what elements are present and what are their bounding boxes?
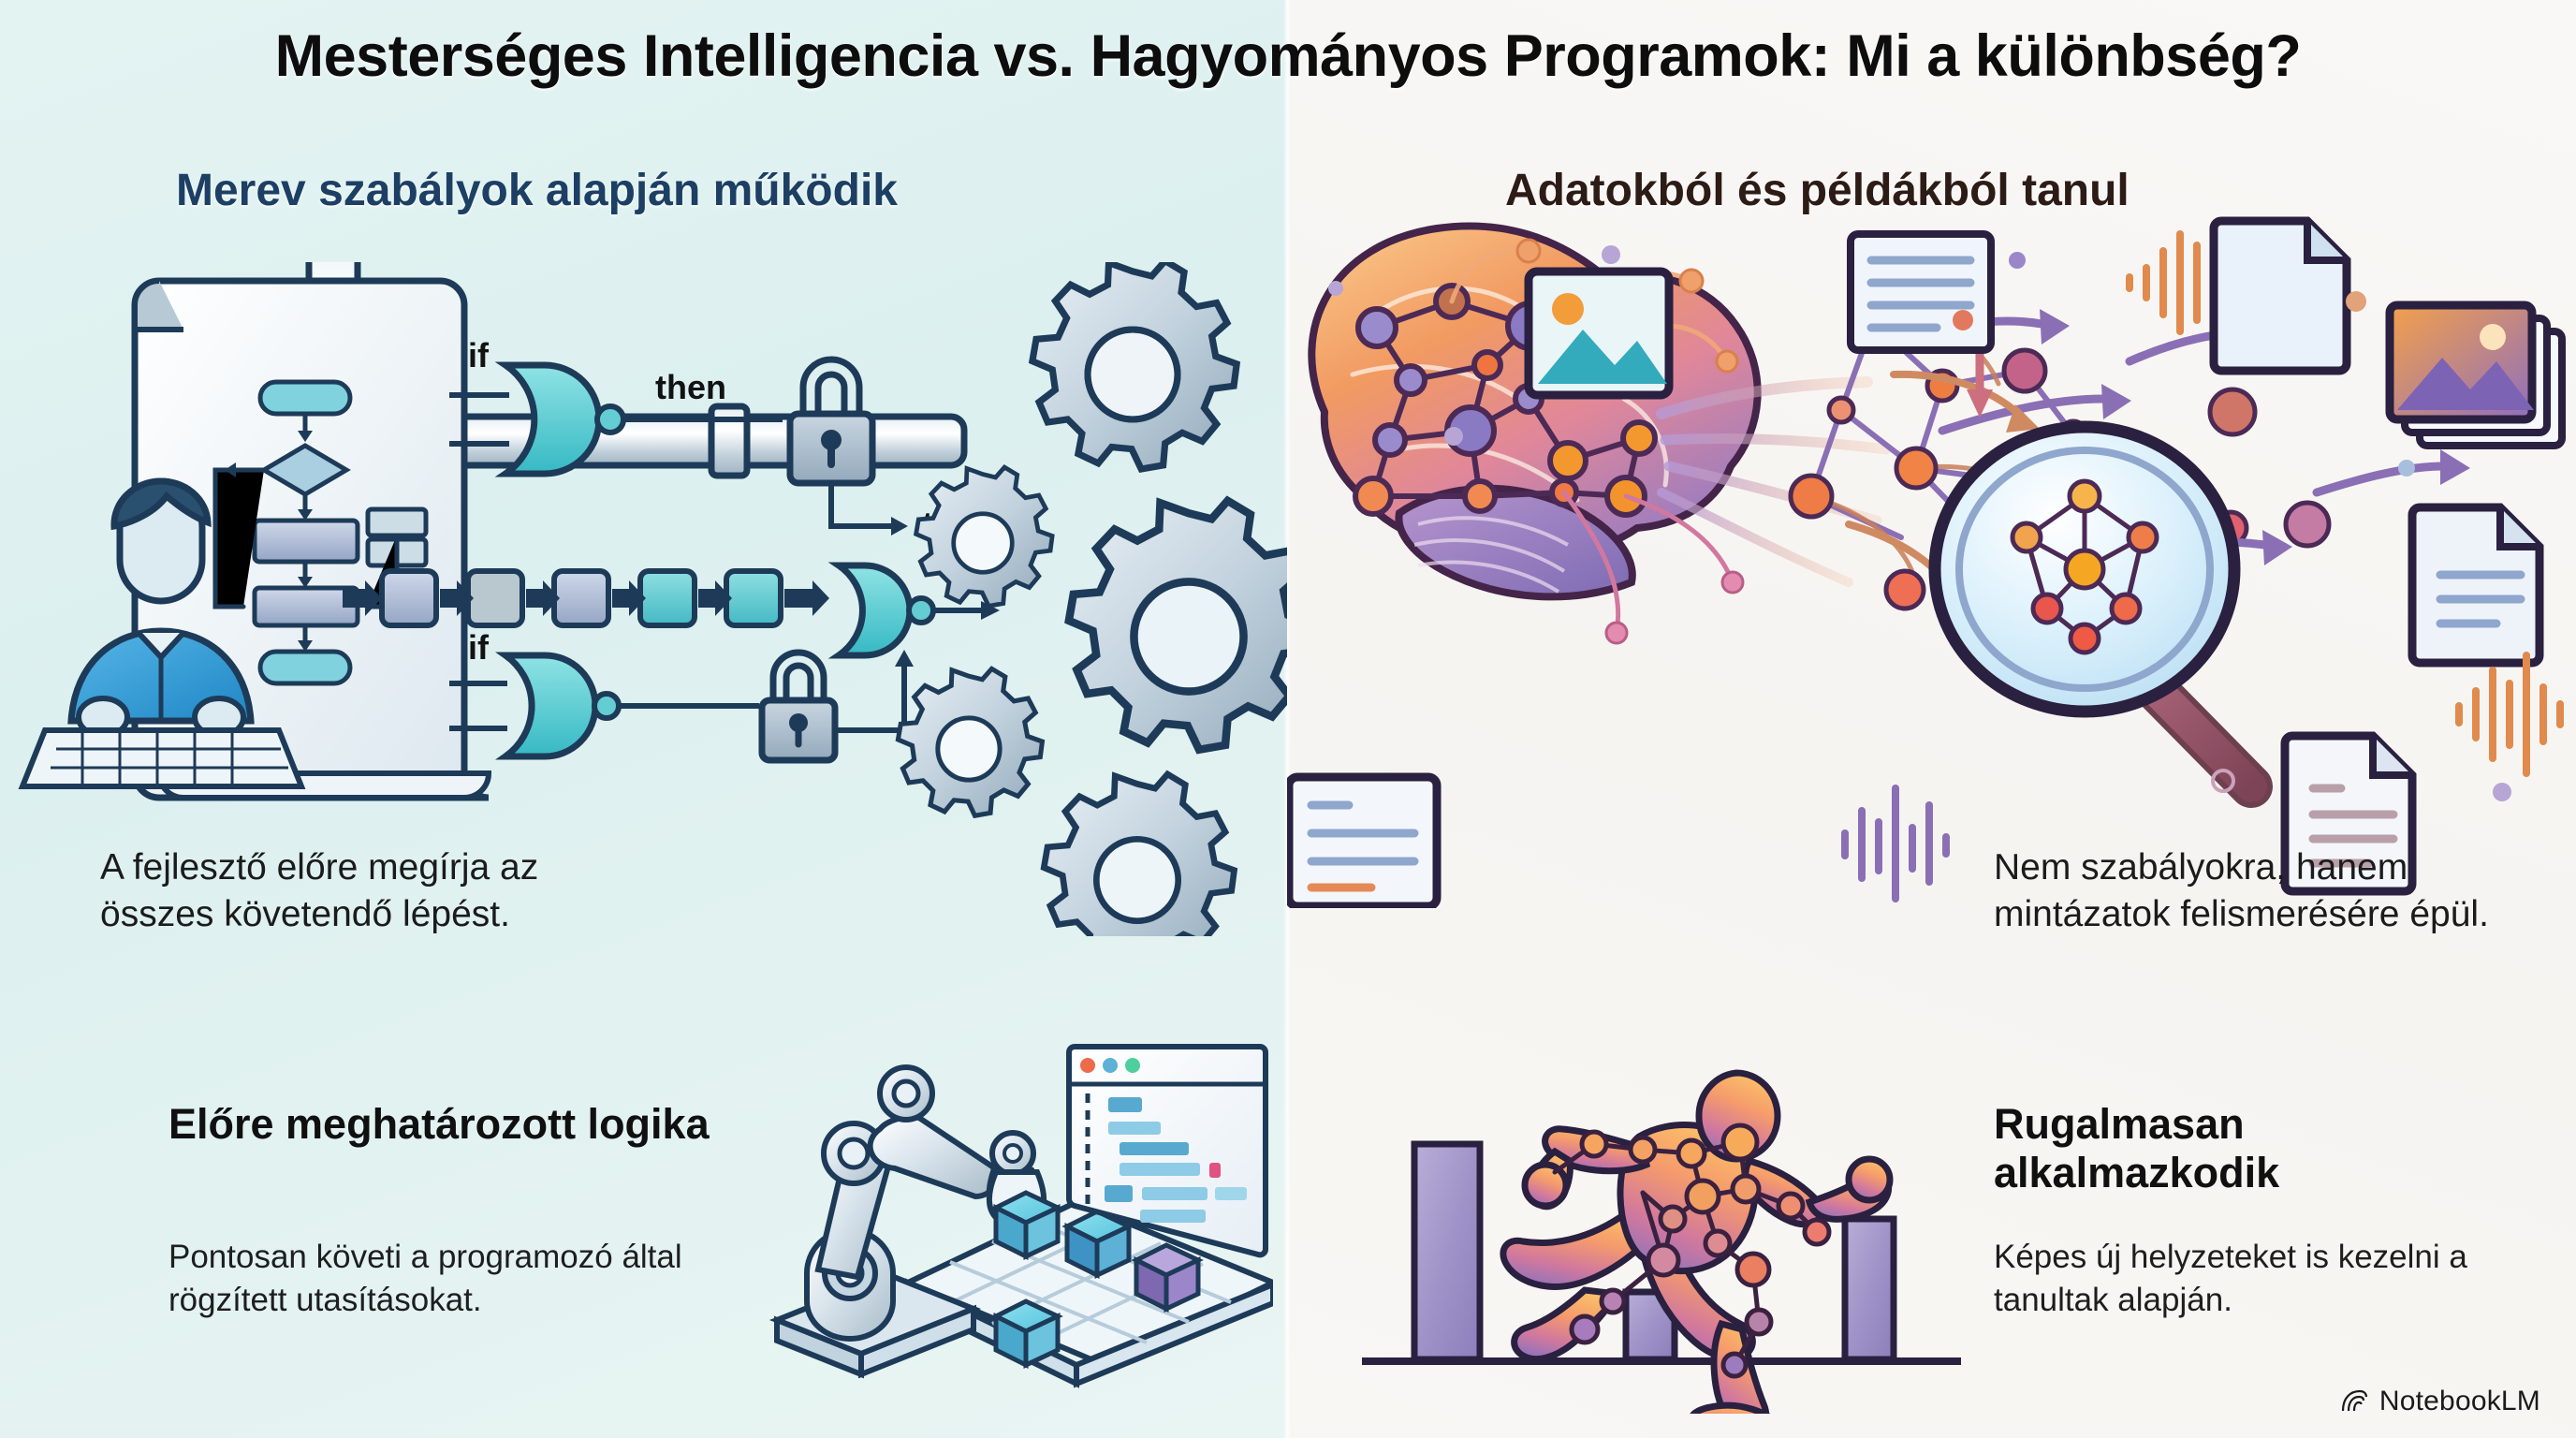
right-card-text: Képes új helyzeteket is kezelni a tanult… <box>1994 1236 2518 1321</box>
magnifier-neuralnet-icon <box>1935 427 2251 786</box>
left-panel-caption: A fejlesztő előre megírja az összes köve… <box>100 844 624 938</box>
cube-icon <box>1136 1245 1198 1309</box>
logic-gate-icon <box>449 655 759 756</box>
notebooklm-label: NotebookLM <box>2379 1386 2540 1417</box>
page-title: Mesterséges Intelligencia vs. Hagyományo… <box>0 22 2576 90</box>
gate-label-if-2: if <box>468 628 490 667</box>
gate-label-then-1: then <box>655 368 726 406</box>
left-card-text: Pontosan követi a programozó által rögzí… <box>168 1236 730 1321</box>
cube-icon <box>996 1301 1058 1365</box>
notebooklm-watermark: NotebookLM <box>2339 1386 2540 1417</box>
image-stack-icon <box>2390 305 2562 446</box>
left-card-heading: Előre meghatározott logika <box>168 1100 749 1149</box>
cube-icon <box>996 1193 1058 1256</box>
process-chain <box>343 571 829 625</box>
right-panel-caption: Nem szabályokra, hanem mintázatok felism… <box>1994 844 2555 938</box>
image-icon <box>1529 271 1669 395</box>
gear-icon <box>898 262 1287 936</box>
right-panel-subtitle: Adatokból és példákból tanul <box>1505 165 2130 216</box>
right-illustration <box>1287 215 2576 908</box>
left-illustration: if then then <box>0 262 1287 936</box>
robot-arm-illustration <box>749 1039 1273 1395</box>
document-icon <box>2214 221 2347 371</box>
infographic-poster: if then then <box>0 0 2576 1438</box>
right-card-heading: Rugalmasan alkalmazkodik <box>1994 1100 2518 1197</box>
document-icon <box>1289 777 1437 906</box>
audio-waveform-icon <box>1845 788 1946 899</box>
left-panel-subtitle: Merev szabályok alapján működik <box>176 165 898 216</box>
padlock-icon <box>762 650 914 760</box>
document-icon <box>2412 507 2539 663</box>
document-icon <box>1851 234 1991 350</box>
gate-label-if-1: if <box>468 336 490 374</box>
cube-icon <box>1067 1211 1129 1275</box>
audio-waveform-icon <box>2459 655 2560 773</box>
notebooklm-spiral-icon <box>2339 1387 2369 1416</box>
runner-illustration <box>1362 1039 1961 1414</box>
